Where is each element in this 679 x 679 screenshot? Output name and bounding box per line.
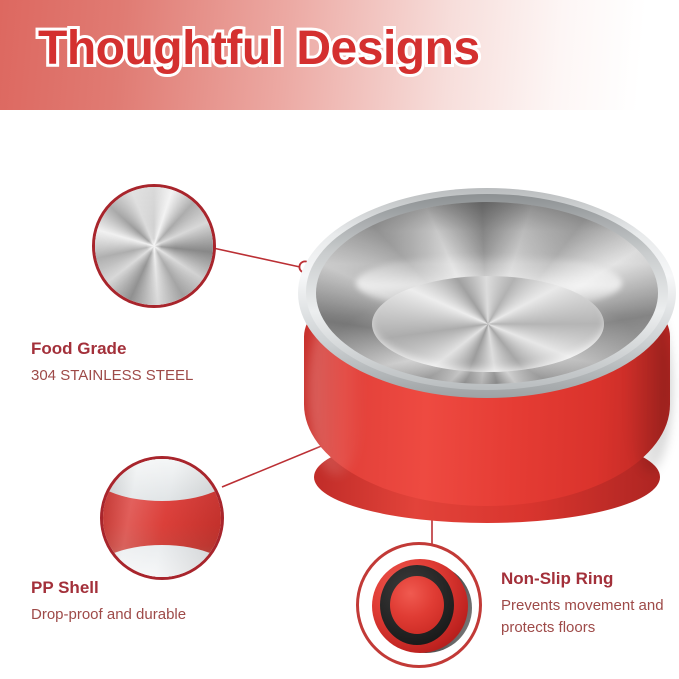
bowl-steel-interior [316, 202, 658, 384]
callout-circle-pp-shell [100, 456, 224, 580]
feature-title-food-grade: Food Grade [31, 338, 193, 359]
feature-desc-food-grade: 304 STAINLESS STEEL [31, 365, 193, 387]
label-pp-shell: PP Shell Drop-proof and durable [31, 577, 186, 626]
non-slip-ring-center [390, 576, 444, 634]
label-food-grade: Food Grade 304 STAINLESS STEEL [31, 338, 193, 387]
feature-title-non-slip: Non-Slip Ring [501, 568, 671, 589]
label-non-slip-ring: Non-Slip Ring Prevents movement and prot… [501, 568, 671, 639]
callout-circle-food-grade [92, 184, 216, 308]
header-banner: Thoughtful Designs [0, 0, 679, 110]
brushed-steel-sheen [95, 187, 213, 305]
bowl-steel-base [372, 276, 604, 372]
feature-desc-pp-shell: Drop-proof and durable [31, 604, 186, 626]
callout-circle-non-slip [356, 542, 482, 668]
product-bowl-image [298, 186, 678, 511]
infographic-page: Thoughtful Designs Food Grade 304 STAINL… [0, 0, 679, 679]
connector-line-food-grade [213, 248, 300, 267]
non-slip-ring-art [368, 557, 472, 657]
feature-title-pp-shell: PP Shell [31, 577, 186, 598]
page-title: Thoughtful Designs [38, 19, 480, 79]
pp-shell-gloss [103, 459, 221, 577]
feature-desc-non-slip: Prevents movement and protects floors [501, 595, 671, 639]
